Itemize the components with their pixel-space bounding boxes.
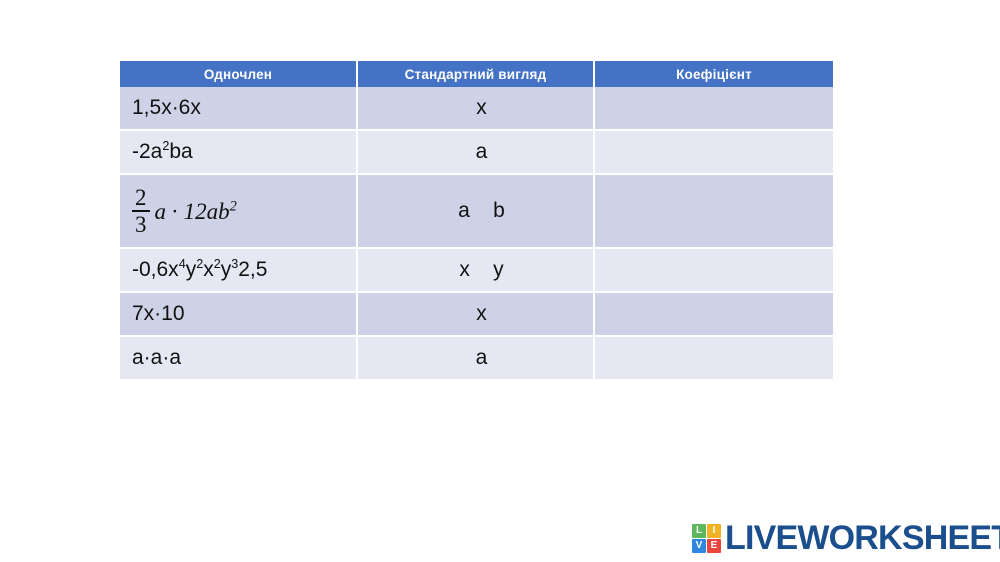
expression-text: a·a·a	[132, 346, 181, 369]
logo-tile-l: L	[692, 524, 706, 538]
monomial-table: Одночлен Стандартний вигляд Коефіцієнт 1…	[120, 61, 833, 381]
expression-part: y	[186, 258, 197, 281]
math-multiplication-dot: ·	[166, 200, 184, 223]
fraction-numerator: 2	[132, 186, 150, 210]
math-variable: a	[155, 200, 167, 223]
table-header: Одночлен Стандартний вигляд Коефіцієнт	[120, 61, 833, 87]
math-term-base: 12ab	[184, 199, 230, 224]
cell-expression: 2 3 a · 12ab2	[120, 175, 358, 249]
cell-expression: a·a·a	[120, 337, 358, 381]
expression-superscript: 2	[214, 257, 221, 271]
table-row: 1,5x·6x x	[120, 87, 833, 131]
cell-standard-form[interactable]: a	[358, 131, 595, 175]
expression-part: 2,5	[238, 258, 267, 281]
cell-standard-form[interactable]: x y	[358, 249, 595, 293]
table-row: -0,6x4y2x2y32,5 x y	[120, 249, 833, 293]
table-row: 7x·10 x	[120, 293, 833, 337]
expression-part: -0,6x	[132, 258, 179, 281]
cell-expression: -0,6x4y2x2y32,5	[120, 249, 358, 293]
expression-text: 7x·10	[132, 302, 185, 325]
cell-standard-form[interactable]: a b	[358, 175, 595, 249]
table-row: a·a·a a	[120, 337, 833, 381]
column-header-standard-form: Стандартний вигляд	[358, 61, 595, 87]
logo-tile-v: V	[692, 539, 706, 553]
logo-tile-i: I	[707, 524, 721, 538]
fraction-denominator: 3	[132, 210, 150, 236]
expression-part: y	[221, 258, 232, 281]
cell-coefficient[interactable]	[595, 131, 833, 175]
math-term-superscript: 2	[230, 198, 237, 214]
cell-expression: 1,5x·6x	[120, 87, 358, 131]
expression-superscript: 4	[179, 257, 186, 271]
math-term: 12ab2	[184, 200, 237, 223]
cell-coefficient[interactable]	[595, 249, 833, 293]
expression-part: x	[203, 258, 214, 281]
expression-part: ba	[169, 140, 192, 163]
cell-standard-form[interactable]: a	[358, 337, 595, 381]
column-header-coefficient: Коефіцієнт	[595, 61, 833, 87]
cell-standard-form[interactable]: x	[358, 87, 595, 131]
worksheet-canvas: Одночлен Стандартний вигляд Коефіцієнт 1…	[0, 0, 1000, 562]
table-row: -2a2ba a	[120, 131, 833, 175]
table-row: 2 3 a · 12ab2 a b	[120, 175, 833, 249]
logo-wordmark: LIVEWORKSHEETS	[725, 521, 1000, 555]
cell-coefficient[interactable]	[595, 293, 833, 337]
column-header-monomial: Одночлен	[120, 61, 358, 87]
logo-tiles-icon: L I V E	[692, 524, 721, 553]
cell-expression: 7x·10	[120, 293, 358, 337]
liveworksheets-logo: L I V E LIVEWORKSHEETS	[692, 518, 1000, 558]
expression-part: -2a	[132, 140, 162, 163]
table-header-row: Одночлен Стандартний вигляд Коефіцієнт	[120, 61, 833, 87]
cell-coefficient[interactable]	[595, 175, 833, 249]
fraction: 2 3	[132, 186, 150, 237]
cell-coefficient[interactable]	[595, 87, 833, 131]
logo-tile-e: E	[707, 539, 721, 553]
expression-text: 1,5x·6x	[132, 96, 201, 119]
cell-expression: -2a2ba	[120, 131, 358, 175]
cell-standard-form[interactable]: x	[358, 293, 595, 337]
table-body: 1,5x·6x x -2a2ba a 2 3 a	[120, 87, 833, 381]
cell-coefficient[interactable]	[595, 337, 833, 381]
math-expression: 2 3 a · 12ab2	[132, 186, 237, 237]
